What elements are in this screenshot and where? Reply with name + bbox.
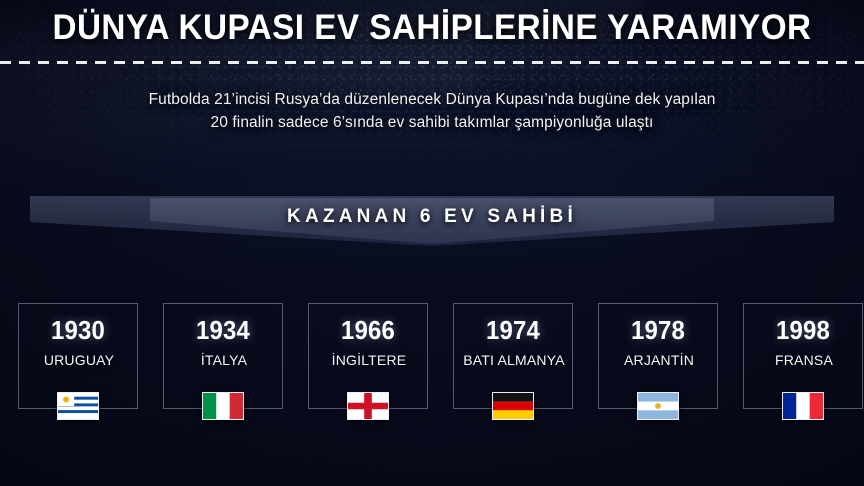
germany-flag [492,392,534,420]
banner-label: KAZANAN 6 EV SAHİBİ [0,206,864,228]
winner-card: 1998FRANSA [743,303,863,409]
page-title: DÜNYA KUPASI EV SAHİPLERİNE YARAMIYOR [22,8,843,48]
subtitle-line-1: Futbolda 21’incisi Rusya’da düzenlenecek… [0,88,864,111]
winner-country: ARJANTİN [589,352,729,368]
winners-card-row: 1930URUGUAY 1934İTALYA 1966İNGİLTERE 197… [18,303,864,433]
winner-card: 1978ARJANTİN [598,303,718,409]
winner-year: 1974 [459,315,568,346]
italy-flag [202,392,244,420]
winner-card: 1930URUGUAY [18,303,138,409]
winner-year: 1934 [169,315,278,346]
dashed-divider [0,61,864,64]
france-flag [782,392,824,420]
infographic-canvas: DÜNYA KUPASI EV SAHİPLERİNE YARAMIYOR Fu… [0,0,864,486]
winner-country: BATI ALMANYA [444,352,584,368]
winner-card: 1966İNGİLTERE [308,303,428,409]
winner-year: 1978 [604,315,713,346]
section-banner: KAZANAN 6 EV SAHİBİ [0,196,864,258]
winner-country: İTALYA [154,352,294,368]
winner-year: 1966 [314,315,423,346]
winner-year: 1998 [749,315,858,346]
winner-year: 1930 [24,315,133,346]
winner-country: İNGİLTERE [299,352,439,368]
winner-card: 1934İTALYA [163,303,283,409]
subtitle-text: Futbolda 21’incisi Rusya’da düzenlenecek… [0,88,864,134]
subtitle-line-2: 20 finalin sadece 6’sında ev sahibi takı… [0,111,864,134]
england-flag [347,392,389,420]
winner-card: 1974BATI ALMANYA [453,303,573,409]
uruguay-flag [57,392,99,420]
winner-country: FRANSA [734,352,864,368]
winner-country: URUGUAY [9,352,149,368]
argentina-flag [637,392,679,420]
